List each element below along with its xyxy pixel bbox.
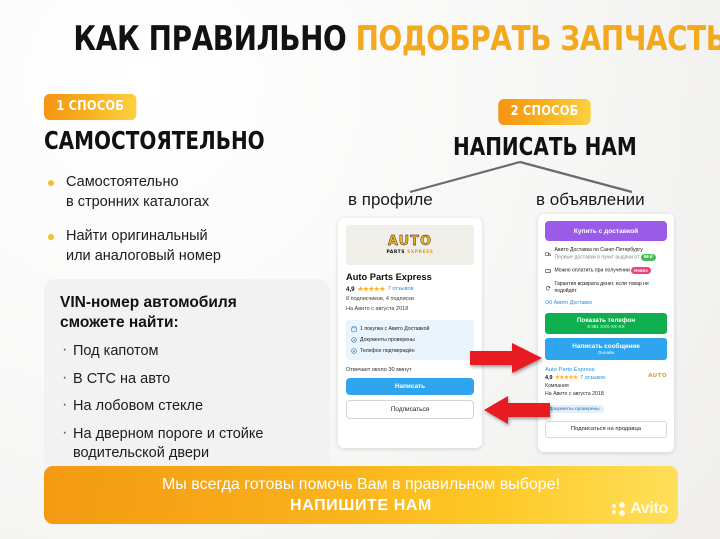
seller-logo-sub-left: PARTS: [386, 250, 405, 255]
method-one-heading: САМОСТОЯТЕЛЬНО: [44, 128, 278, 154]
delivery-box-icon: [351, 326, 357, 332]
arrow-left-icon: [484, 396, 550, 424]
new-pill: Новое: [631, 267, 651, 274]
profile-features-block: 1 покупка с Авито Доставкой Документы пр…: [346, 320, 474, 360]
cta-banner: Мы всегда готовы помочь Вам в правильном…: [44, 466, 678, 524]
price-pill: 99 ₽: [641, 254, 656, 261]
branch-label-profile: в профиле: [348, 190, 433, 210]
profile-name: Auto Parts Express: [346, 272, 474, 282]
profile-answer-time: Отвечает около 30 минут: [346, 367, 474, 373]
method-one-bullets: Самостоятельно в стронних каталогах Найт…: [44, 172, 336, 266]
seller-logo-main: AUTO: [388, 235, 432, 248]
advert-info-row: Можно оплатить при получении Новое: [545, 267, 667, 275]
cta-line-1: Мы всегда готовы помочь Вам в правильном…: [162, 475, 560, 495]
list-item: На дверном пороге и стойке водительской …: [60, 425, 314, 463]
method-one-badge: 1 СПОСОБ: [44, 94, 137, 120]
reviews-link[interactable]: 7 отзывов: [388, 286, 414, 292]
advert-info-text: Гарантия возврата денег, если товар не п…: [555, 281, 668, 295]
check-circle-icon: [351, 337, 357, 343]
advert-seller-block: AUTO Auto Parts Express 4,9 ★★★★★ 7 отзы…: [545, 367, 667, 415]
list-item: Под капотом: [60, 342, 314, 361]
about-delivery-link[interactable]: Об Авито Доставке: [545, 300, 667, 306]
write-message-button[interactable]: Написать сообщение Онлайн: [545, 338, 667, 360]
feature-row: 1 покупка с Авито Доставкой: [346, 323, 474, 334]
cta-line-2: НАПИШИТЕ НАМ: [290, 497, 432, 515]
title-part-dark: КАК ПРАВИЛЬНО: [73, 19, 346, 59]
infographic-page: КАК ПРАВИЛЬНО ПОДОБРАТЬ ЗАПЧАСТЬ? 1 СПОС…: [0, 0, 720, 539]
write-button[interactable]: Написать: [346, 378, 474, 395]
advert-seller-since: На Авито с августа 2018: [545, 391, 667, 397]
feature-row: Документы проверены: [346, 334, 474, 345]
avito-dots-icon: [612, 502, 627, 517]
seller-logo-sub: PARTS EXPRESS: [386, 250, 433, 255]
star-rating-icon: ★★★★★: [555, 375, 578, 381]
show-phone-button[interactable]: Показать телефон 8 981 XXX-XX-XX: [545, 313, 667, 335]
page-title: КАК ПРАВИЛЬНО ПОДОБРАТЬ ЗАПЧАСТЬ?: [0, 22, 720, 56]
online-status: Онлайн: [545, 350, 667, 355]
branch-label-advert: в объявлении: [536, 190, 645, 210]
list-item: Найти оригинальный или аналоговый номер: [44, 226, 336, 266]
method-two-heading: НАПИСАТЬ НАМ: [453, 132, 637, 161]
wallet-icon: [545, 267, 551, 275]
list-item: В СТС на авто: [60, 370, 314, 389]
feature-label: Документы проверены: [360, 337, 415, 343]
profile-rating: 4,9 ★★★★★ 7 отзывов: [346, 285, 474, 293]
show-phone-label: Показать телефон: [545, 317, 667, 324]
avito-watermark-text: Avito: [630, 500, 668, 518]
feature-label: 1 покупка с Авито Доставкой: [360, 326, 429, 332]
profile-member-since: На Авито с августа 2018: [346, 306, 474, 314]
advert-info-row: Авито Доставка по Санкт-Петербургу Первы…: [545, 247, 667, 261]
reviews-link[interactable]: 7 отзывов: [580, 375, 605, 381]
feature-row: Телефон подтверждён: [346, 345, 474, 356]
phone-check-icon: [351, 348, 357, 354]
feature-label: Телефон подтверждён: [360, 348, 415, 354]
seller-small-logo: AUTO: [648, 373, 667, 379]
avito-watermark: Avito: [612, 500, 668, 518]
advert-seller-type: Компания: [545, 383, 667, 389]
rating-value: 4,9: [545, 375, 553, 381]
advert-info-text: Можно оплатить при получении: [555, 268, 630, 274]
seller-logo-sub-right: EXPRESS: [407, 250, 433, 255]
advert-info-text: Авито Доставка по Санкт-Петербургу: [555, 247, 656, 254]
advert-screenshot-card: Купить с доставкой Авито Доставка по Сан…: [538, 214, 674, 452]
delivery-truck-icon: [545, 247, 551, 261]
vin-location-list: Под капотом В СТС на авто На лобовом сте…: [60, 342, 314, 463]
advert-info-sub: Первые доставки в пункт выдачи от 99 ₽: [555, 254, 656, 262]
write-message-label: Написать сообщение: [545, 343, 667, 350]
method-two-badge: 2 СПОСОБ: [499, 99, 592, 125]
star-rating-icon: ★★★★★: [358, 285, 385, 293]
rating-value: 4,9: [346, 286, 355, 293]
profile-followers: 8 подписчиков, 4 подписки: [346, 296, 474, 304]
profile-screenshot-card: AUTO PARTS EXPRESS Auto Parts Express 4,…: [338, 218, 482, 448]
list-item: Самостоятельно в стронних каталогах: [44, 172, 336, 212]
arrow-right-icon: [470, 343, 542, 373]
vin-card-title: VIN-номер автомобиля сможете найти:: [60, 293, 314, 333]
return-arrow-icon: [545, 281, 551, 295]
title-part-amber: ПОДОБРАТЬ ЗАПЧАСТЬ?: [356, 19, 720, 59]
vin-info-card: VIN-номер автомобиля сможете найти: Под …: [44, 279, 330, 488]
buy-with-delivery-button[interactable]: Купить с доставкой: [545, 221, 667, 241]
subscribe-button[interactable]: Подписаться: [346, 400, 474, 419]
seller-logo: AUTO PARTS EXPRESS: [346, 225, 474, 265]
documents-verified-chip: Документы проверены: [545, 405, 604, 413]
list-item: На лобовом стекле: [60, 397, 314, 416]
method-one-column: 1 СПОСОБ САМОСТОЯТЕЛЬНО Самостоятельно в…: [44, 94, 336, 280]
phone-number: 8 981 XXX-XX-XX: [545, 324, 667, 329]
advert-info-sub-text: Первые доставки в пункт выдачи от: [555, 255, 640, 261]
advert-info-row: Гарантия возврата денег, если товар не п…: [545, 281, 667, 295]
method-two-column: 2 СПОСОБ НАПИСАТЬ НАМ: [430, 99, 660, 161]
subscribe-seller-button[interactable]: Подписаться на продавца: [545, 421, 667, 438]
